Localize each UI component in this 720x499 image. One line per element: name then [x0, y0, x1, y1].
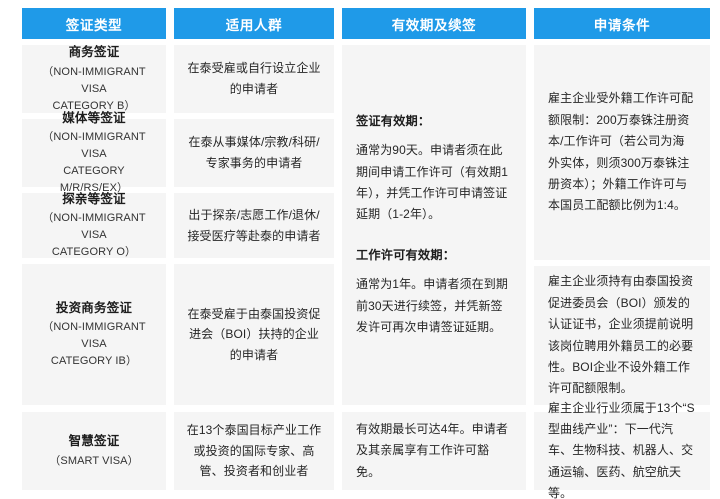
requirements-smart-visa-text: 雇主企业行业须属于13个“S型曲线产业”：下一代汽车、生物科技、机器人、交通运输…: [548, 398, 696, 499]
column-header-validity: 有效期及续签: [342, 8, 526, 39]
validity-block-work-permit: 工作许可有效期： 通常为1年。申请者须在到期前30天进行续签，并凭新签发许可再次…: [356, 246, 512, 339]
visa-type-cell: 媒体等签证 （NON-IMMIGRANT VISA CATEGORY M/R/R…: [22, 119, 166, 187]
validity-smart-visa-cell: 有效期最长可达4年。申请者及其亲属享有工作许可豁免。: [342, 412, 526, 490]
requirements-business-cell: 雇主企业受外籍工作许可配额限制：200万泰铢注册资本/工作许可（若公司为海外实体…: [534, 45, 710, 260]
audience-cell: 在泰受雇于由泰国投资促进会（BOI）扶持的企业的申请者: [174, 264, 334, 405]
visa-comparison-table: 签证类型 适用人群 有效期及续签 申请条件 商务签证 （NON-IMMIGRAN…: [0, 0, 720, 499]
visa-type-name: 商务签证: [69, 43, 120, 62]
audience-text: 在泰受雇或自行设立企业的申请者: [184, 58, 324, 99]
audience-cell: 在泰受雇或自行设立企业的申请者: [174, 45, 334, 113]
visa-type-name: 探亲等签证: [62, 190, 126, 209]
visa-type-cell: 智慧签证 （SMART VISA）: [22, 412, 166, 490]
column-header-visa-type: 签证类型: [22, 8, 166, 39]
validity-smart-visa-text: 有效期最长可达4年。申请者及其亲属享有工作许可豁免。: [356, 419, 512, 483]
audience-text: 在泰受雇于由泰国投资促进会（BOI）扶持的企业的申请者: [184, 304, 324, 366]
requirements-boi-cell: 雇主企业须持有由泰国投资促进委员会（BOI）颁发的认证证书，企业须提前说明该岗位…: [534, 266, 710, 405]
validity-block-visa: 签证有效期： 通常为90天。申请者须在此期间申请工作许可（有效期1年），并凭工作…: [356, 112, 512, 226]
visa-type-cell: 商务签证 （NON-IMMIGRANT VISA CATEGORY B）: [22, 45, 166, 113]
column-header-requirements: 申请条件: [534, 8, 710, 39]
validity-merged-cell: 签证有效期： 通常为90天。申请者须在此期间申请工作许可（有效期1年），并凭工作…: [342, 45, 526, 405]
validity-block-body: 通常为90天。申请者须在此期间申请工作许可（有效期1年），并凭工作许可申请签证延…: [356, 140, 512, 225]
visa-type-name: 媒体等签证: [62, 109, 126, 128]
visa-type-cell: 探亲等签证 （NON-IMMIGRANT VISA CATEGORY O）: [22, 193, 166, 258]
visa-type-cell: 投资商务签证 （NON-IMMIGRANT VISA CATEGORY IB）: [22, 264, 166, 405]
visa-type-code: （NON-IMMIGRANT VISA CATEGORY IB）: [32, 319, 156, 370]
requirements-boi-text: 雇主企业须持有由泰国投资促进委员会（BOI）颁发的认证证书，企业须提前说明该岗位…: [548, 271, 696, 399]
validity-block-body: 通常为1年。申请者须在到期前30天进行续签，并凭新签发许可再次申请签证延期。: [356, 274, 512, 338]
visa-type-code: （SMART VISA）: [49, 453, 138, 470]
audience-text: 在13个泰国目标产业工作或投资的国际专家、高管、投资者和创业者: [184, 420, 324, 482]
audience-cell: 在泰从事媒体/宗教/科研/专家事务的申请者: [174, 119, 334, 187]
audience-cell: 出于探亲/志愿工作/退休/接受医疗等赴泰的申请者: [174, 193, 334, 258]
visa-type-code: （NON-IMMIGRANT VISA CATEGORY B）: [32, 64, 156, 115]
requirements-smart-visa-cell: 雇主企业行业须属于13个“S型曲线产业”：下一代汽车、生物科技、机器人、交通运输…: [534, 412, 710, 490]
column-header-audience: 适用人群: [174, 8, 334, 39]
audience-cell: 在13个泰国目标产业工作或投资的国际专家、高管、投资者和创业者: [174, 412, 334, 490]
validity-block-title: 工作许可有效期：: [356, 246, 512, 266]
requirements-business-text: 雇主企业受外籍工作许可配额限制：200万泰铢注册资本/工作许可（若公司为海外实体…: [548, 88, 696, 216]
visa-type-code: （NON-IMMIGRANT VISA CATEGORY M/R/RS/EX）: [32, 129, 156, 197]
validity-block-title: 签证有效期：: [356, 112, 512, 132]
audience-text: 出于探亲/志愿工作/退休/接受医疗等赴泰的申请者: [184, 205, 324, 246]
visa-type-code: （NON-IMMIGRANT VISA CATEGORY O）: [32, 210, 156, 261]
visa-type-name: 投资商务签证: [56, 299, 132, 318]
visa-type-name: 智慧签证: [69, 432, 120, 451]
audience-text: 在泰从事媒体/宗教/科研/专家事务的申请者: [184, 132, 324, 173]
